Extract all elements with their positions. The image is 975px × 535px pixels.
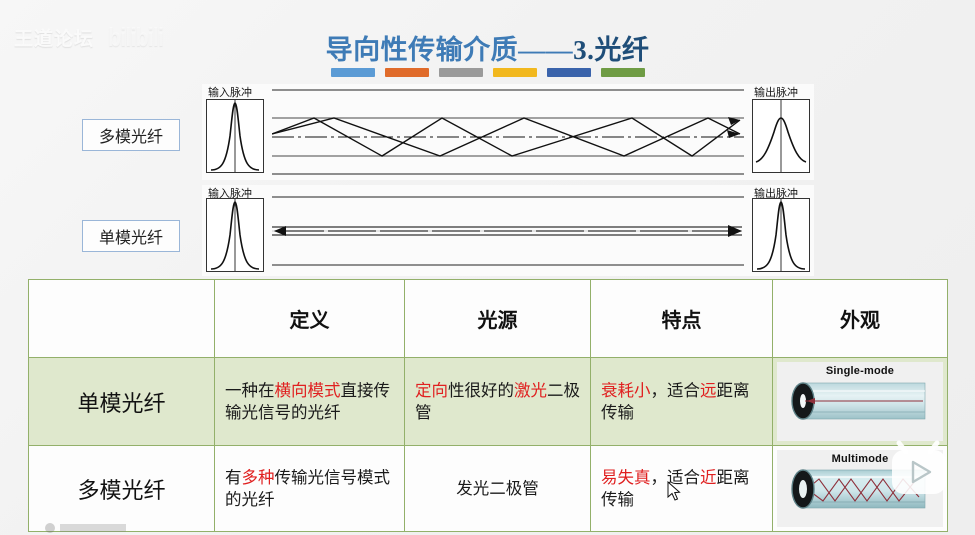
- bar-orange: [385, 68, 429, 77]
- row-appearance-singlemode: Single-mode: [773, 358, 948, 446]
- plain-text: 有: [225, 468, 242, 487]
- table-header-blank: [29, 280, 215, 358]
- page-title-main: 导向性传输介质——: [326, 35, 574, 65]
- plain-text: 发光二极管: [456, 479, 539, 498]
- plain-text: 性很好的: [448, 381, 514, 400]
- table-header-feature: 特点: [591, 280, 773, 358]
- highlight-text: 近: [700, 468, 717, 487]
- row-lightsource-multimode: 发光二极管: [405, 446, 591, 532]
- bar-green: [601, 68, 645, 77]
- slide-canvas: 王道论坛 bilibili 导向性传输介质——3.光纤 多模光纤 单模光纤 输入…: [0, 0, 975, 535]
- plain-text: ，适合: [651, 381, 701, 400]
- narrow-pulse-icon: [207, 199, 263, 271]
- multimode-input-pulse-box: [206, 99, 264, 173]
- row-lightsource-singlemode: 定向性很好的激光二极管: [405, 358, 591, 446]
- diagram-label-singlemode-text: 单模光纤: [99, 224, 163, 248]
- narrow-pulse-icon: [753, 199, 809, 271]
- multimode-output-pulse-box: [752, 99, 810, 173]
- highlight-text: 横向模式: [275, 381, 341, 400]
- multimode-ray-path: [272, 84, 744, 180]
- page-title-suffix: 3.光纤: [573, 35, 649, 65]
- diagram-label-multimode: 多模光纤: [82, 119, 180, 151]
- highlight-text: 定向: [415, 381, 448, 400]
- multimode-appearance-image: Multimode: [777, 450, 943, 527]
- multi-mode-fiber-icon: [789, 467, 931, 511]
- bar-gray: [439, 68, 483, 77]
- narrow-pulse-icon: [207, 100, 263, 172]
- fiber-comparison-table: 定义 光源 特点 外观 单模光纤 一种在横向模式直接传输光信号的光纤 定向性很好…: [28, 279, 948, 532]
- bar-blue: [331, 68, 375, 77]
- diagram-label-singlemode: 单模光纤: [82, 220, 180, 252]
- row-appearance-multimode: Multimode: [773, 446, 948, 532]
- table-header-lightsource: 光源: [405, 280, 591, 358]
- page-title: 导向性传输介质——3.光纤: [0, 28, 975, 67]
- single-mode-fiber-icon: [789, 379, 931, 423]
- row-feature-multimode: 易失真，适合近距离传输: [591, 446, 773, 532]
- row-definition-singlemode: 一种在横向模式直接传输光信号的光纤: [215, 358, 405, 446]
- table-header-row: 定义 光源 特点 外观: [29, 280, 948, 358]
- singlemode-output-pulse-box: [752, 198, 810, 272]
- highlight-text: 易失真: [601, 468, 651, 487]
- singlemode-input-pulse-box: [206, 198, 264, 272]
- multimode-appearance-caption: Multimode: [832, 453, 889, 465]
- singlemode-appearance-image: Single-mode: [777, 362, 943, 441]
- plain-text: 一种在: [225, 381, 275, 400]
- highlight-text: 多种: [242, 468, 275, 487]
- multimode-figure: 输入脉冲 输出脉冲: [202, 84, 814, 180]
- row-feature-singlemode: 衰耗小，适合远距离传输: [591, 358, 773, 446]
- mouse-cursor: [667, 481, 681, 501]
- bar-navy: [547, 68, 591, 77]
- diagram-label-multimode-text: 多模光纤: [99, 123, 163, 147]
- row-name-singlemode: 单模光纤: [29, 358, 215, 446]
- wide-pulse-icon: [753, 100, 809, 172]
- row-definition-multimode: 有多种传输光信号模式的光纤: [215, 446, 405, 532]
- highlight-text: 衰耗小: [601, 381, 651, 400]
- bar-yellow: [493, 68, 537, 77]
- table-row: 单模光纤 一种在横向模式直接传输光信号的光纤 定向性很好的激光二极管 衰耗小，适…: [29, 358, 948, 446]
- singlemode-ray-path: [272, 189, 744, 273]
- table-header-appearance: 外观: [773, 280, 948, 358]
- table-header-definition: 定义: [215, 280, 405, 358]
- multimode-input-pulse-label: 输入脉冲: [208, 84, 252, 100]
- multimode-output-pulse-label: 输出脉冲: [754, 84, 798, 100]
- singlemode-figure: 输入脉冲 输出脉冲: [202, 185, 814, 276]
- highlight-text: 远: [700, 381, 717, 400]
- singlemode-appearance-caption: Single-mode: [826, 365, 894, 377]
- fiber-diagrams: 多模光纤 单模光纤 输入脉冲: [0, 84, 975, 276]
- bottom-partial-element: [36, 519, 156, 533]
- accent-bar-group: [0, 68, 975, 77]
- table-row: 多模光纤 有多种传输光信号模式的光纤 发光二极管 易失真，适合近距离传输 Mul…: [29, 446, 948, 532]
- highlight-text: 激光: [514, 381, 547, 400]
